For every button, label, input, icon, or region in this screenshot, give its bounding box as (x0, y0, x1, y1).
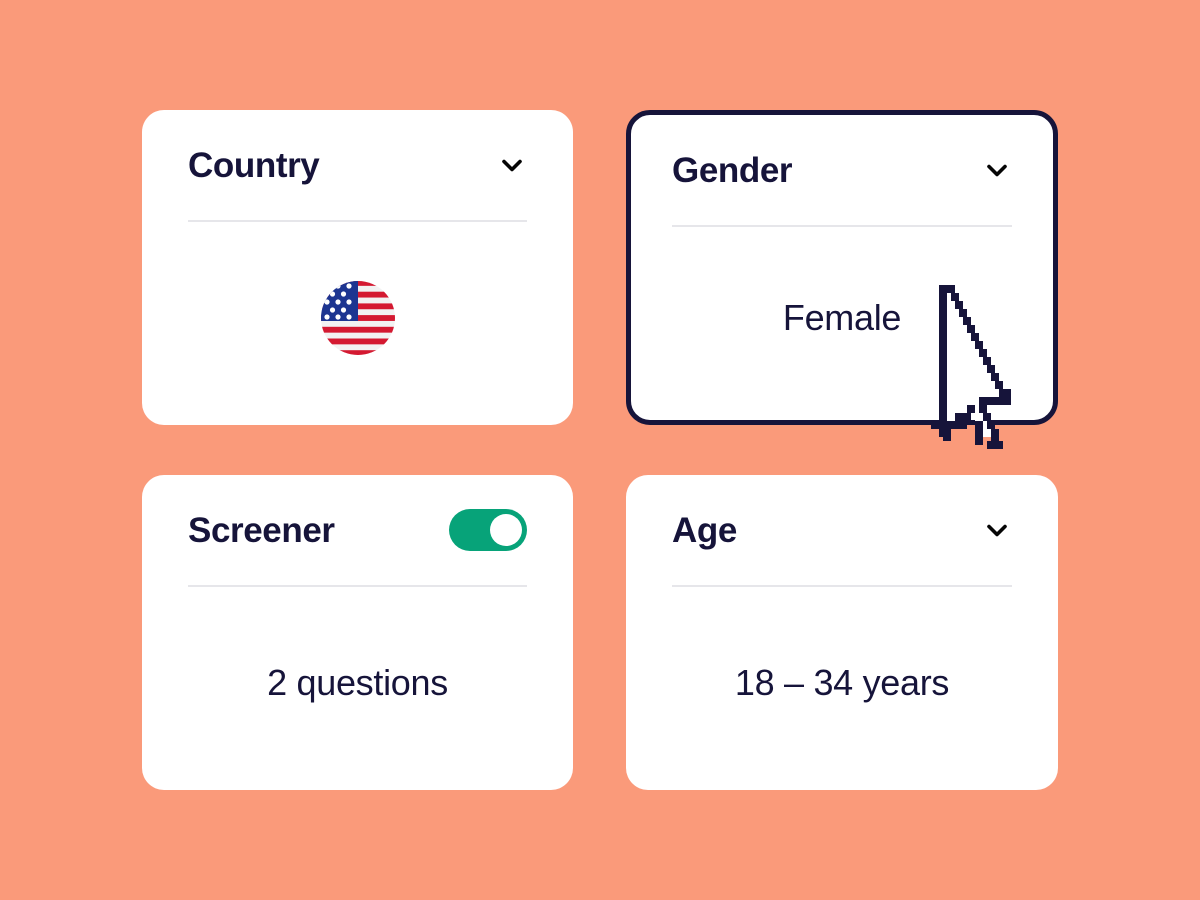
card-title-country: Country (188, 148, 319, 183)
card-header-gender: Gender (650, 115, 1034, 225)
card-header-screener: Screener (166, 475, 549, 585)
chevron-down-icon[interactable] (982, 515, 1012, 545)
chevron-down-icon[interactable] (982, 155, 1012, 185)
card-value-age: 18 – 34 years (735, 662, 949, 704)
toggle-knob (490, 514, 522, 546)
chevron-down-icon[interactable] (497, 150, 527, 180)
us-flag-icon (320, 280, 396, 356)
card-body-screener: 2 questions (166, 587, 549, 790)
screener-toggle-switch[interactable] (449, 509, 527, 551)
card-body-age: 18 – 34 years (650, 587, 1034, 790)
card-body-gender: Female (650, 227, 1034, 420)
filters-board: Country (0, 0, 1200, 900)
card-body-country (166, 222, 549, 425)
filter-card-country[interactable]: Country (142, 110, 573, 425)
card-value-screener: 2 questions (267, 662, 448, 704)
filter-card-gender[interactable]: Gender Female (626, 110, 1058, 425)
card-title-age: Age (672, 513, 737, 548)
card-value-gender: Female (783, 297, 901, 339)
card-header-age: Age (650, 475, 1034, 585)
card-title-gender: Gender (672, 153, 792, 188)
card-title-screener: Screener (188, 513, 335, 548)
card-header-country: Country (166, 110, 549, 220)
filter-card-screener[interactable]: Screener 2 questions (142, 475, 573, 790)
filter-card-age[interactable]: Age 18 – 34 years (626, 475, 1058, 790)
